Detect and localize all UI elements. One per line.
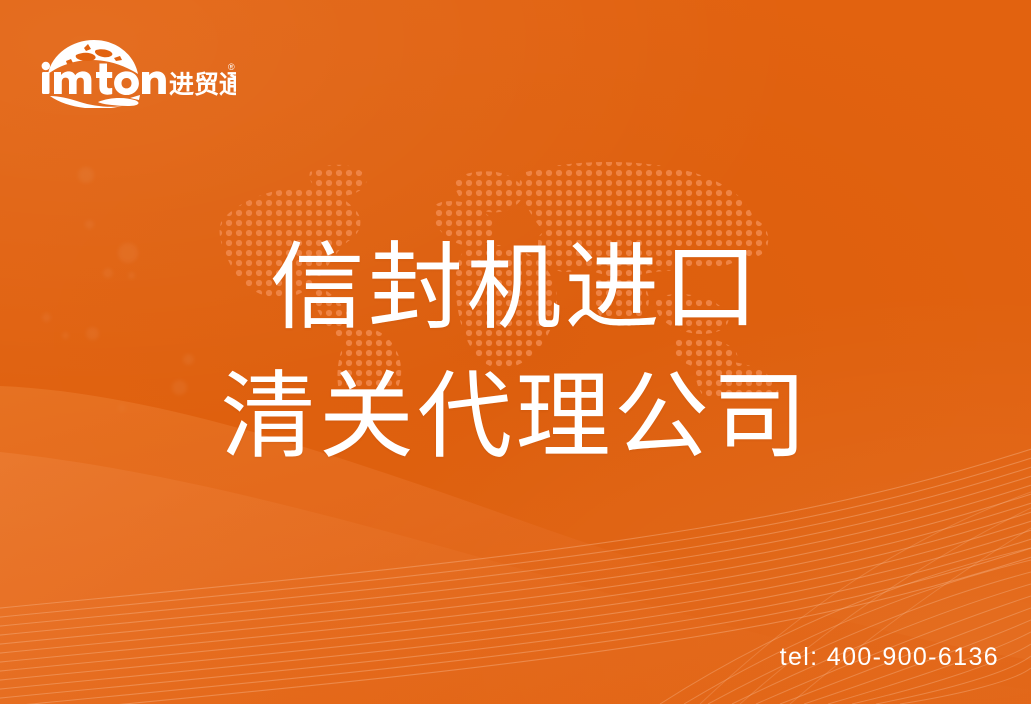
registered-mark-icon: ® (228, 62, 235, 72)
swoosh-icon (50, 95, 140, 108)
contact-phone[interactable]: tel: 400-900-6136 (780, 643, 999, 672)
page-title: 信封机进口 清关代理公司 (0, 224, 1031, 482)
page-title-line2: 清关代理公司 (0, 353, 1031, 482)
page-title-line1: 信封机进口 (0, 224, 1031, 353)
logo-chinese-name: 进贸通 (169, 70, 236, 99)
globe-icon (48, 40, 138, 74)
logo[interactable]: 进贸通 ® (36, 28, 236, 108)
banner-canvas: 进贸通 ® 信封机进口 清关代理公司 tel: 400-900-6136 (0, 0, 1031, 704)
